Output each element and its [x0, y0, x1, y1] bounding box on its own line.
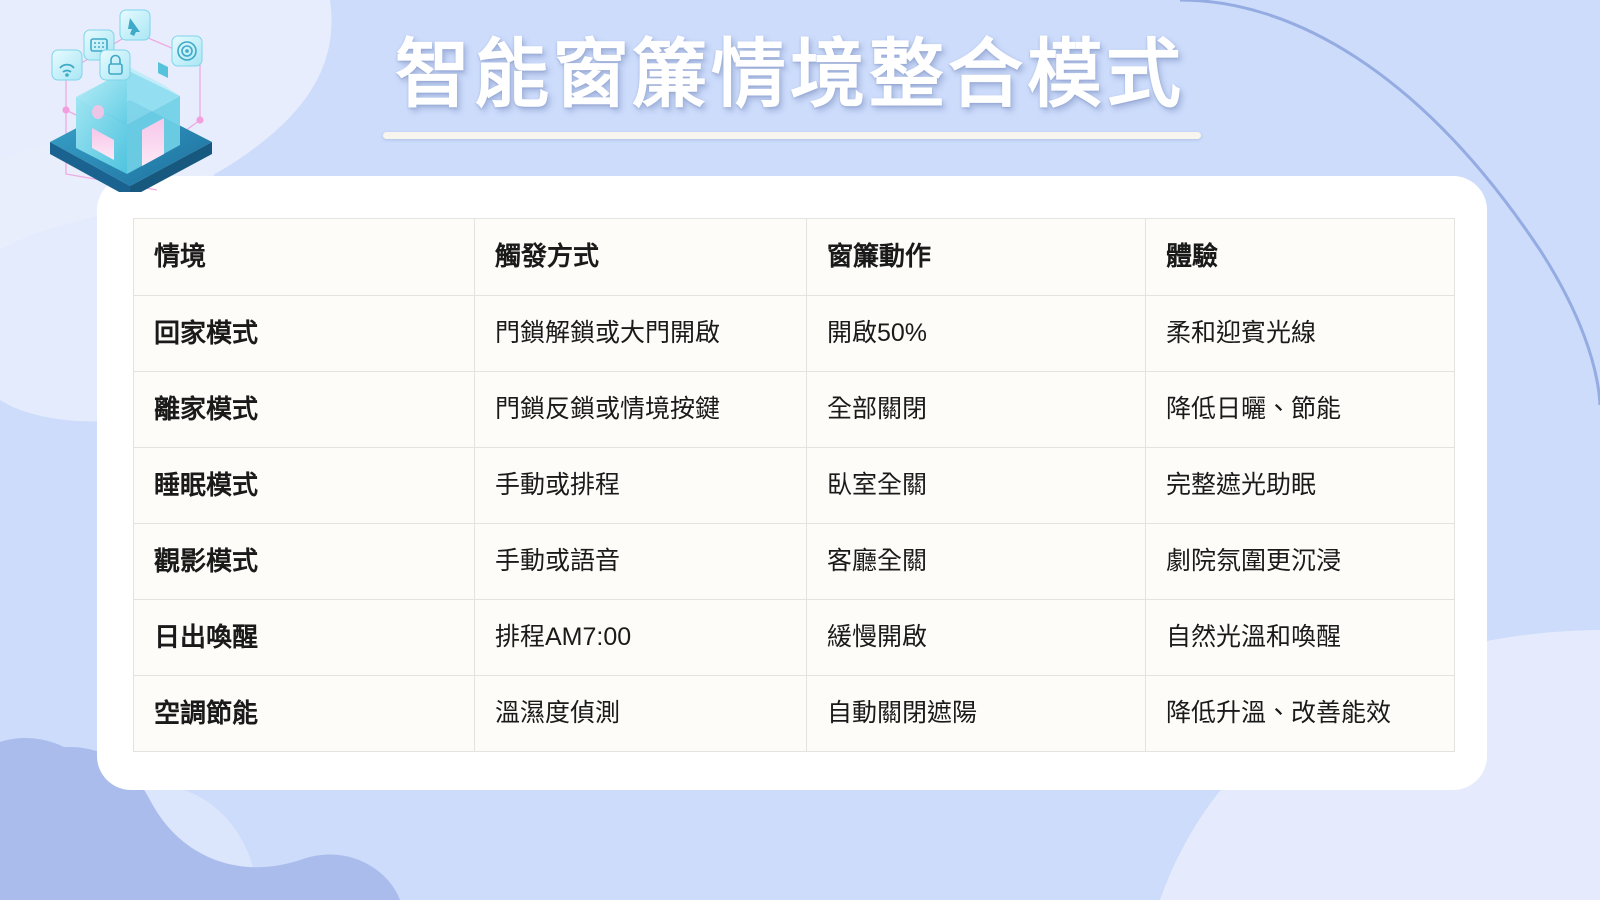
cursor-icon: [120, 10, 150, 40]
fingerprint-icon: [172, 36, 202, 66]
cell-action: 臥室全關: [807, 448, 1146, 524]
cell-trigger: 手動或語音: [475, 524, 807, 600]
cell-action: 客廳全關: [807, 524, 1146, 600]
cell-experience: 劇院氛圍更沉浸: [1146, 524, 1455, 600]
cell-trigger: 排程AM7:00: [475, 600, 807, 676]
cell-experience: 降低升溫、改善能效: [1146, 676, 1455, 752]
table-row: 日出喚醒 排程AM7:00 緩慢開啟 自然光溫和喚醒: [134, 600, 1455, 676]
cell-action: 緩慢開啟: [807, 600, 1146, 676]
cell-experience: 自然光溫和喚醒: [1146, 600, 1455, 676]
cell-scene: 空調節能: [134, 676, 475, 752]
cell-trigger: 門鎖解鎖或大門開啟: [475, 296, 807, 372]
table-header-row: 情境 觸發方式 窗簾動作 體驗: [134, 219, 1455, 296]
wifi-icon: [52, 50, 82, 80]
cell-scene: 睡眠模式: [134, 448, 475, 524]
cell-scene: 日出喚醒: [134, 600, 475, 676]
title-underline-rule: [383, 132, 1201, 139]
cell-experience: 柔和迎賓光線: [1146, 296, 1455, 372]
cell-trigger: 溫濕度偵測: [475, 676, 807, 752]
cell-action: 全部關閉: [807, 372, 1146, 448]
page-title: 智能窗簾情境整合模式: [380, 34, 1200, 115]
cell-scene: 觀影模式: [134, 524, 475, 600]
table-row: 空調節能 溫濕度偵測 自動關閉遮陽 降低升溫、改善能效: [134, 676, 1455, 752]
table-row: 回家模式 門鎖解鎖或大門開啟 開啟50% 柔和迎賓光線: [134, 296, 1455, 372]
scene-integration-table: 情境 觸發方式 窗簾動作 體驗 回家模式 門鎖解鎖或大門開啟 開啟50% 柔和迎…: [133, 218, 1455, 752]
cell-action: 開啟50%: [807, 296, 1146, 372]
scene-table-container: 情境 觸發方式 窗簾動作 體驗 回家模式 門鎖解鎖或大門開啟 開啟50% 柔和迎…: [133, 218, 1454, 751]
page-title-text: 智能窗簾情境整合模式: [380, 34, 1200, 115]
slide-canvas: 智能窗簾情境整合模式 情境 觸發方式 窗簾動作 體驗 回家模式 門鎖解鎖或大門開…: [0, 0, 1600, 900]
table-row: 觀影模式 手動或語音 客廳全關 劇院氛圍更沉浸: [134, 524, 1455, 600]
column-header-action: 窗簾動作: [807, 219, 1146, 296]
lock-icon: [100, 50, 130, 80]
cell-experience: 降低日曬、節能: [1146, 372, 1455, 448]
cell-scene: 回家模式: [134, 296, 475, 372]
table-row: 睡眠模式 手動或排程 臥室全關 完整遮光助眠: [134, 448, 1455, 524]
column-header-scene: 情境: [134, 219, 475, 296]
column-header-experience: 體驗: [1146, 219, 1455, 296]
cell-experience: 完整遮光助眠: [1146, 448, 1455, 524]
cell-trigger: 門鎖反鎖或情境按鍵: [475, 372, 807, 448]
cell-scene: 離家模式: [134, 372, 475, 448]
smart-home-illustration: [22, 2, 237, 192]
column-header-trigger: 觸發方式: [475, 219, 807, 296]
table-row: 離家模式 門鎖反鎖或情境按鍵 全部關閉 降低日曬、節能: [134, 372, 1455, 448]
cell-trigger: 手動或排程: [475, 448, 807, 524]
cell-action: 自動關閉遮陽: [807, 676, 1146, 752]
